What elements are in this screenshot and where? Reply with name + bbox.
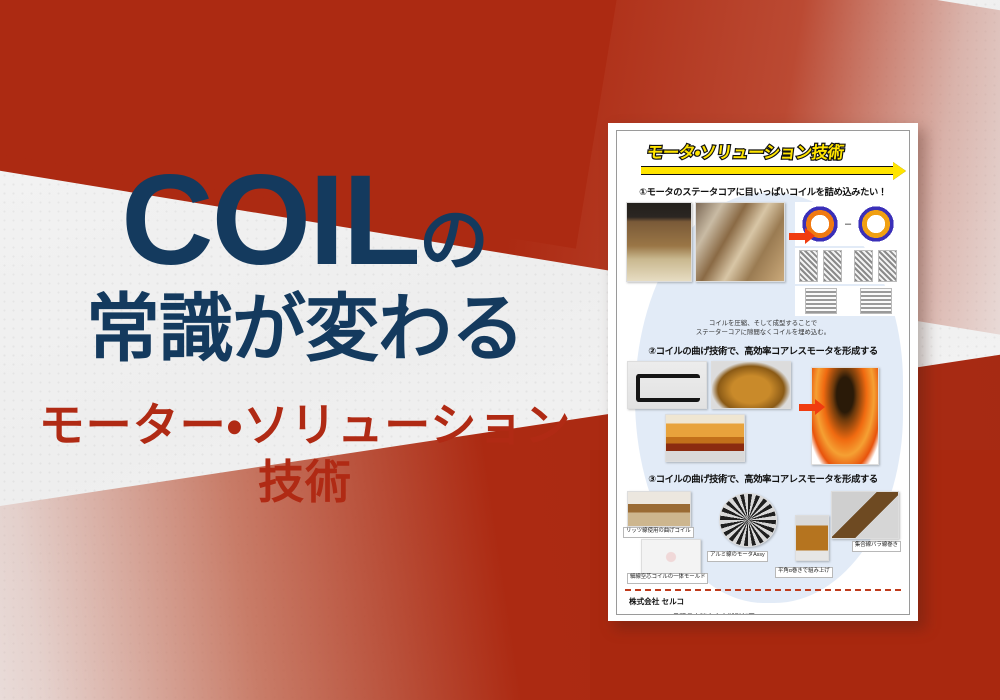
photo-bundled-wire-wind bbox=[831, 491, 899, 539]
flyer-title-banner: モータ・ソリューション技術 bbox=[623, 139, 903, 179]
diagram-slot-fill-a bbox=[799, 250, 818, 282]
diagram-stator-after bbox=[853, 204, 899, 244]
photo-straight-coil bbox=[627, 361, 707, 409]
headline-line-4: 技術 bbox=[0, 454, 610, 512]
headline-particle-no: の bbox=[419, 201, 489, 279]
contact-company-name: 株式会社 セルコ bbox=[629, 596, 899, 607]
photo-litz-coil-bundle bbox=[665, 414, 745, 462]
section1-caption: コイルを圧縮、そして成型することで ステーターコアに隙間なくコイルを埋め込む。 bbox=[623, 319, 903, 338]
flyer-section2-heading: ②コイルの曲げ技術で、高効率コアレスモータを形成する bbox=[623, 343, 903, 357]
photo-coreless-motor bbox=[811, 367, 879, 465]
flyer-title-text: モータ・ソリューション技術 bbox=[646, 139, 846, 163]
diagram-slot-fill-b bbox=[823, 250, 842, 282]
caption-molded-aircore-coil: 細線空芯コイルの一体モールド bbox=[627, 573, 708, 584]
flyer-section1-heading: ①モータのステータコアに目いっぱいコイルを詰め込みたい！ bbox=[623, 184, 903, 198]
photo-stator-core bbox=[626, 202, 692, 282]
photo-molded-aircore-coil bbox=[641, 539, 701, 575]
diagram-wire-pack-b bbox=[860, 288, 892, 314]
photo-rect-alpha-wind bbox=[795, 515, 829, 561]
headline-line-1: COILの bbox=[0, 160, 610, 282]
headline-line-3: モーター・ソリューション bbox=[0, 397, 610, 455]
flyer-document[interactable]: モータ・ソリューション技術 ①モータのステータコアに目いっぱいコイルを詰め込みた… bbox=[608, 123, 918, 621]
caption-rect-alpha-wind: 平角α巻きで組み上げ bbox=[775, 567, 833, 578]
flyer-section3-heading: ③コイルの曲げ技術で、高効率コアレスモータを形成する bbox=[623, 471, 903, 485]
section1-caption-line1: コイルを圧縮、そして成型することで bbox=[709, 320, 817, 327]
caption-litz-bent-coil: リッツ線使用の曲げコイル bbox=[623, 527, 694, 538]
flyer-content: モータ・ソリューション技術 ①モータのステータコアに目いっぱいコイルを詰め込みた… bbox=[617, 131, 909, 615]
section1-diagram-group: – bbox=[795, 202, 901, 316]
headline-line-2: 常識が変わる bbox=[0, 286, 610, 371]
photo-coil-wires bbox=[695, 202, 785, 282]
headline-coil-word: COIL bbox=[121, 149, 419, 292]
diagram-wire-pack-a bbox=[805, 288, 837, 314]
minus-sign-icon: – bbox=[845, 218, 851, 230]
contact-address: 〒384-0808 長野県小諸市大字御影新田2130-1 bbox=[629, 611, 899, 615]
photo-litz-bent-coil bbox=[627, 491, 691, 527]
photo-bent-coil bbox=[711, 361, 791, 409]
section1-caption-line2: ステーターコアに隙間なくコイルを埋め込む。 bbox=[696, 329, 830, 336]
flyer-page: モータ・ソリューション技術 ①モータのステータコアに目いっぱいコイルを詰め込みた… bbox=[616, 130, 910, 615]
diagram-slot-fill-d bbox=[878, 250, 897, 282]
flyer-contact-block: 株式会社 セルコ 〒384-0808 長野県小諸市大字御影新田2130-1 TE… bbox=[623, 595, 903, 615]
headline-block: COILの 常識が変わる モーター・ソリューション 技術 bbox=[0, 160, 610, 512]
flyer-title-arrow-icon bbox=[641, 166, 893, 175]
section2-photo-group bbox=[627, 361, 791, 462]
caption-aluminum-motor-assy: アルミ線のモータAssy bbox=[707, 551, 768, 562]
section1-photo-group bbox=[626, 202, 785, 282]
caption-bundled-wire-wind: 集合線バラ線巻き bbox=[852, 541, 901, 552]
flyer-divider bbox=[625, 589, 901, 591]
diagram-slot-fill-c bbox=[854, 250, 873, 282]
photo-aluminum-motor-assy bbox=[719, 493, 777, 547]
poster-canvas: COILの 常識が変わる モーター・ソリューション 技術 モータ・ソリューション… bbox=[0, 0, 1000, 700]
